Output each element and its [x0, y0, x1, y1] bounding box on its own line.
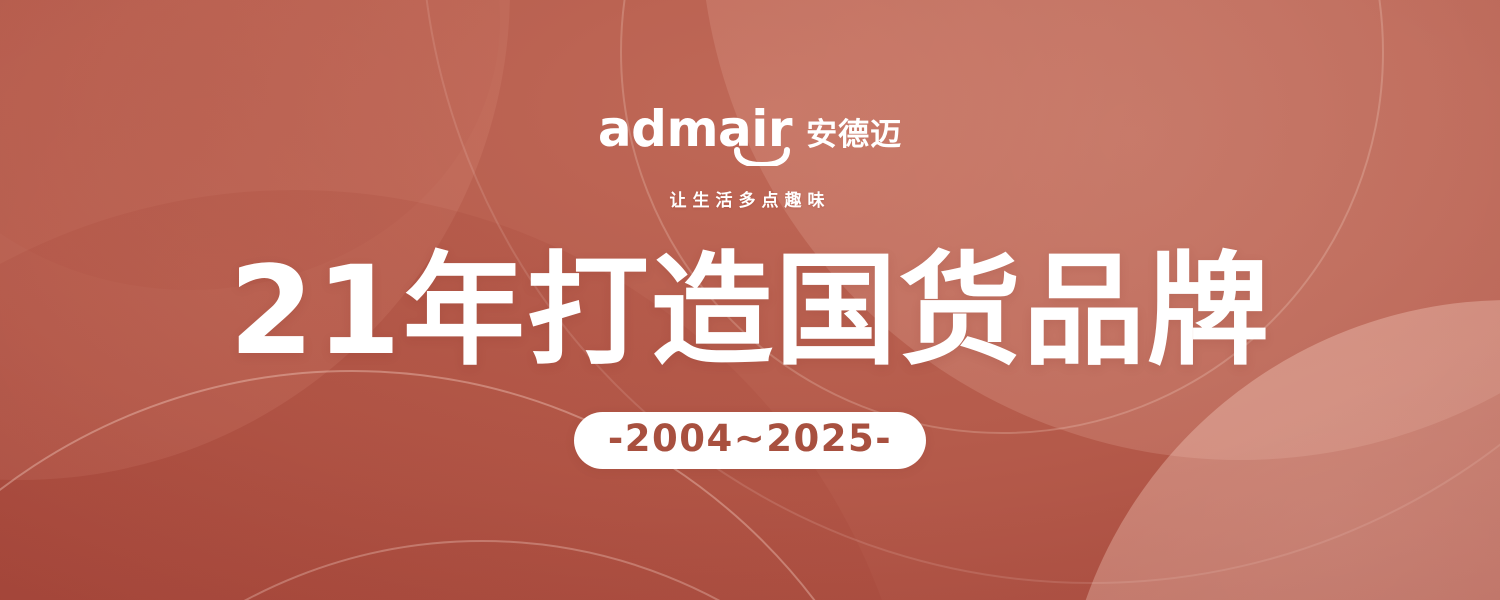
date-range-badge: -2004~2025- — [574, 412, 926, 469]
banner-content: admair 安德迈 让生活多点趣味 21年打造国货品牌 -2004~2025- — [0, 0, 1500, 600]
date-pill-row: -2004~2025- — [0, 412, 1500, 469]
promo-banner: admair 安德迈 让生活多点趣味 21年打造国货品牌 -2004~2025- — [0, 0, 1500, 600]
logo-brand-cn: 安德迈 — [806, 120, 902, 160]
logo-wordmark: admair — [598, 104, 792, 160]
smile-swoosh-icon — [734, 146, 790, 166]
tagline: 让生活多点趣味 — [0, 186, 1500, 211]
page-title: 21年打造国货品牌 — [0, 250, 1500, 372]
logo-lockup: admair 安德迈 — [0, 104, 1500, 160]
